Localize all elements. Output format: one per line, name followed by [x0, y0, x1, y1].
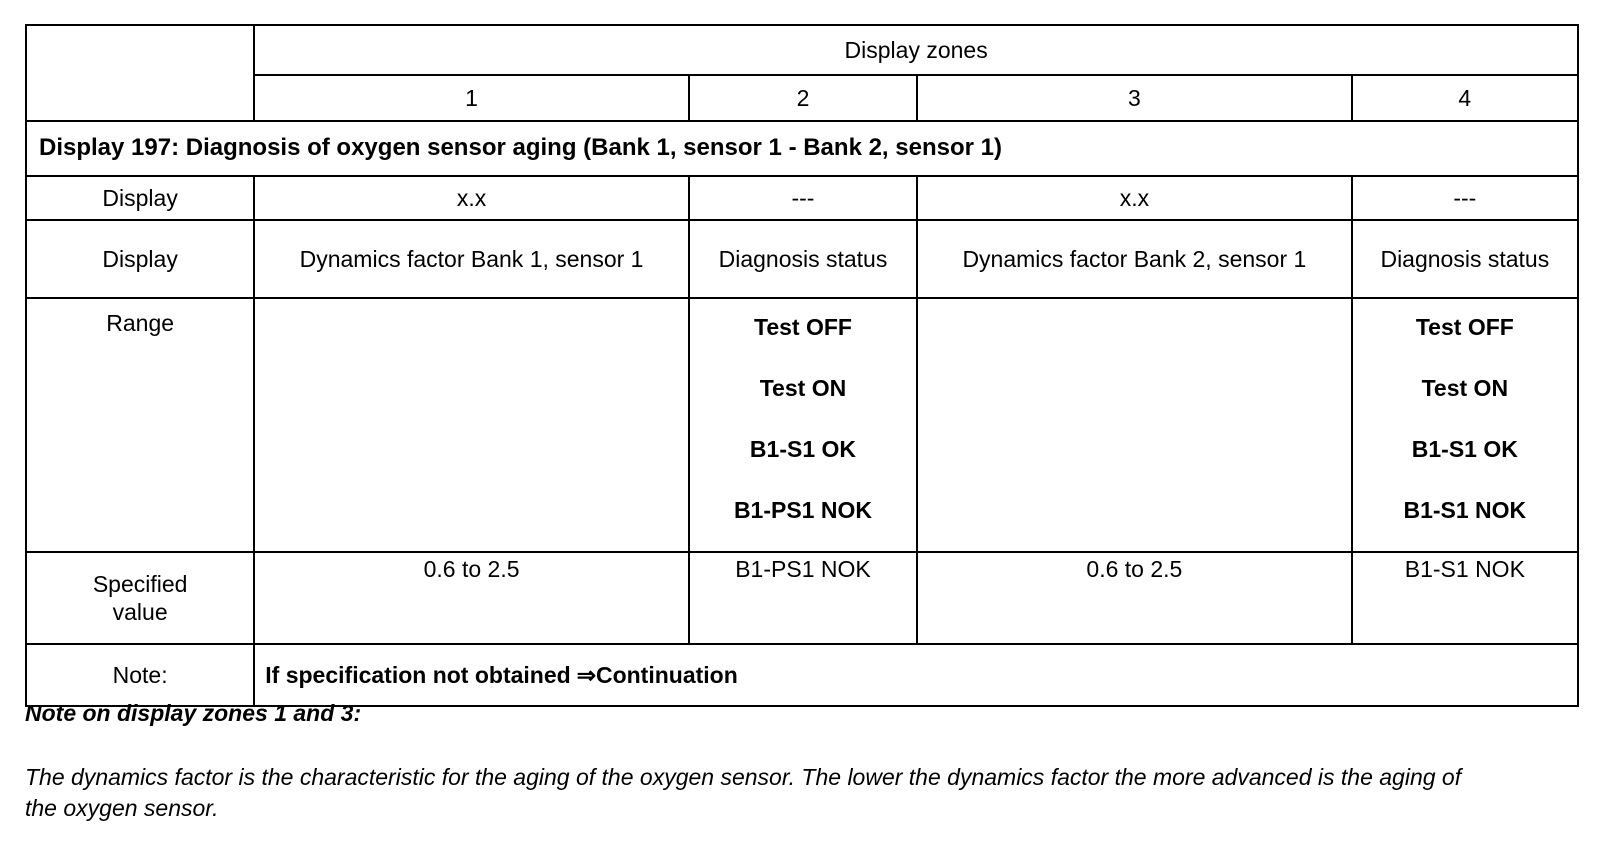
range-item: Test OFF [1416, 313, 1514, 341]
table-header-row-zones: Display zones [26, 25, 1578, 75]
display-desc-zone1: Dynamics factor Bank 1, sensor 1 [254, 220, 689, 298]
row-label-line1: Specified [35, 570, 245, 598]
specified-value-zone3: 0.6 to 2.5 [917, 552, 1352, 644]
display-title: Display 197: Diagnosis of oxygen sensor … [26, 121, 1578, 176]
table-row-display-descriptions: Display Dynamics factor Bank 1, sensor 1… [26, 220, 1578, 298]
row-label-specified-value: Specified value [26, 552, 254, 644]
specified-value-zone2: B1-PS1 NOK [689, 552, 917, 644]
display-zones-header: Display zones [254, 25, 1578, 75]
display-value-zone3: x.x [917, 176, 1352, 220]
range-item: B1-PS1 NOK [734, 496, 872, 524]
note-text-main: If specification not obtained [265, 662, 570, 688]
range-zone3 [917, 298, 1352, 552]
display-value-zone4: --- [1352, 176, 1578, 220]
continuation-arrow-text: ⇒Continuation [571, 662, 738, 688]
zone-number-4: 4 [1352, 75, 1578, 121]
range-zone2: Test OFF Test ON B1-S1 OK B1-PS1 NOK [689, 298, 917, 552]
range-item: Test ON [1422, 374, 1508, 402]
range-zone1 [254, 298, 689, 552]
range-item: B1-S1 NOK [1403, 496, 1526, 524]
table-row-specified-value: Specified value 0.6 to 2.5 B1-PS1 NOK 0.… [26, 552, 1578, 644]
range-list-zone2: Test OFF Test ON B1-S1 OK B1-PS1 NOK [698, 309, 908, 524]
range-item: B1-S1 OK [750, 435, 856, 463]
display-value-zone1: x.x [254, 176, 689, 220]
specified-value-zone1: 0.6 to 2.5 [254, 552, 689, 644]
table-row-note: Note: If specification not obtained⇒Cont… [26, 644, 1578, 706]
document-page: Display zones 1 2 3 4 Display 197: Diagn… [0, 0, 1600, 868]
table-row-display-values: Display x.x --- x.x --- [26, 176, 1578, 220]
row-label-display-descriptions: Display [26, 220, 254, 298]
note-content: If specification not obtained⇒Continuati… [254, 644, 1578, 706]
footer-note-body: The dynamics factor is the characteristi… [25, 762, 1475, 824]
range-item: Test OFF [754, 313, 852, 341]
specified-value-zone4: B1-S1 NOK [1352, 552, 1578, 644]
row-label-note: Note: [26, 644, 254, 706]
row-label-range: Range [26, 298, 254, 552]
display-desc-zone3: Dynamics factor Bank 2, sensor 1 [917, 220, 1352, 298]
table-title-row: Display 197: Diagnosis of oxygen sensor … [26, 121, 1578, 176]
range-list-zone4: Test OFF Test ON B1-S1 OK B1-S1 NOK [1361, 309, 1569, 524]
range-item: Test ON [760, 374, 846, 402]
zone-number-1: 1 [254, 75, 689, 121]
table-header-row-numbers: 1 2 3 4 [26, 75, 1578, 121]
display-desc-zone4: Diagnosis status [1352, 220, 1578, 298]
zone-number-2: 2 [689, 75, 917, 121]
table-row-range: Range Test OFF Test ON B1-S1 OK B1-PS1 N… [26, 298, 1578, 552]
display-value-zone2: --- [689, 176, 917, 220]
display-desc-zone2: Diagnosis status [689, 220, 917, 298]
row-label-line2: value [35, 598, 245, 626]
display-zones-table: Display zones 1 2 3 4 Display 197: Diagn… [25, 24, 1579, 707]
range-zone4: Test OFF Test ON B1-S1 OK B1-S1 NOK [1352, 298, 1578, 552]
header-corner-cell [26, 25, 254, 121]
range-item: B1-S1 OK [1412, 435, 1518, 463]
row-label-display-values: Display [26, 176, 254, 220]
zone-number-3: 3 [917, 75, 1352, 121]
footer-note-heading: Note on display zones 1 and 3: [25, 700, 361, 727]
